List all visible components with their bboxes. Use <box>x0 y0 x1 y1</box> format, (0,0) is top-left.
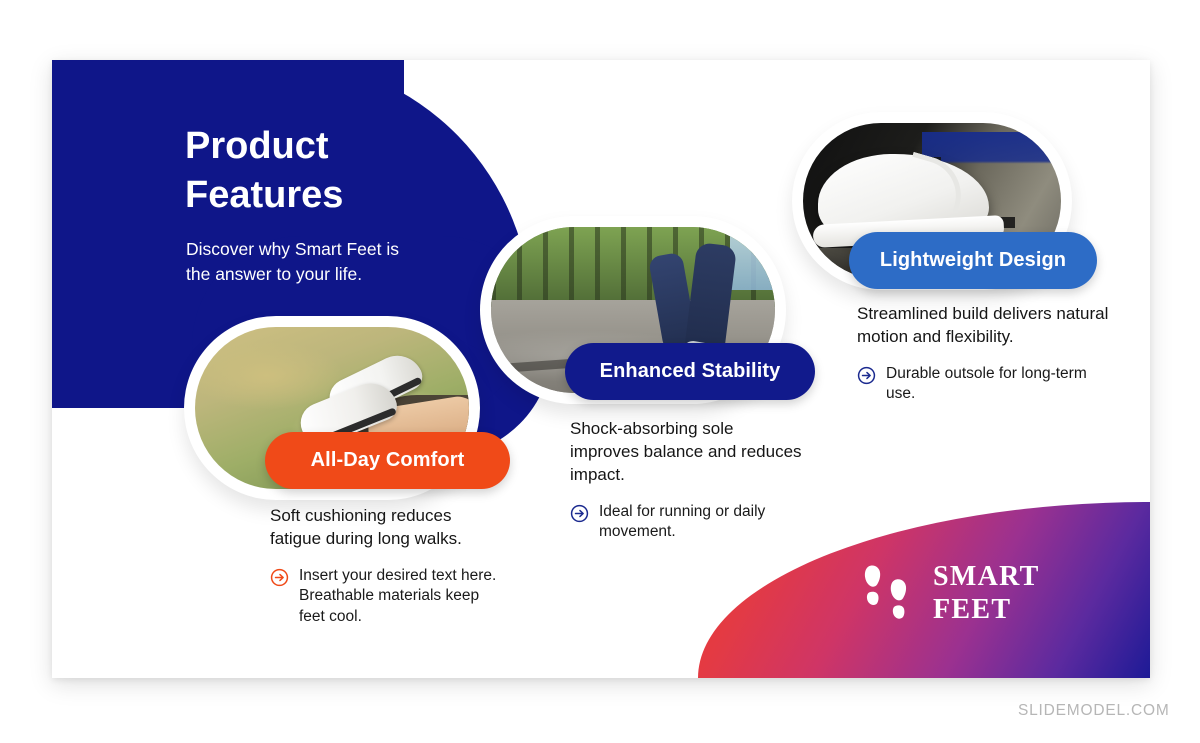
slidemodel-watermark: SLIDEMODEL.COM <box>1018 702 1170 720</box>
page-subtitle-line2: the answer to your life. <box>186 262 466 287</box>
feature-bullet-comfort: Insert your desired text here. Breathabl… <box>270 566 500 628</box>
presentation-slide: Product Features Discover why Smart Feet… <box>52 60 1150 678</box>
page-title: Product Features <box>185 122 495 219</box>
page-title-line2: Features <box>185 171 495 220</box>
brand-wordmark: SMART FEET <box>933 560 1040 626</box>
feature-badge-stability[interactable]: Enhanced Stability <box>565 343 815 400</box>
photo-sky <box>730 234 775 290</box>
footprints-icon <box>864 563 916 623</box>
brand-logo: SMART FEET <box>864 560 1040 626</box>
page-subtitle: Discover why Smart Feet is the answer to… <box>186 237 466 288</box>
arrow-circle-right-icon <box>857 366 876 385</box>
feature-text-comfort: Soft cushioning reduces fatigue during l… <box>270 505 500 628</box>
feature-text-stability: Shock-absorbing sole improves balance an… <box>570 418 805 543</box>
feature-description-stability: Shock-absorbing sole improves balance an… <box>570 418 805 487</box>
arrow-circle-right-icon <box>270 568 289 587</box>
page-title-line1: Product <box>185 122 495 171</box>
feature-description-comfort: Soft cushioning reduces fatigue during l… <box>270 505 500 551</box>
page-subtitle-line1: Discover why Smart Feet is <box>186 237 466 262</box>
feature-description-lightweight: Streamlined build delivers natural motio… <box>857 303 1112 349</box>
feature-badge-comfort[interactable]: All-Day Comfort <box>265 432 510 489</box>
feature-bullet-stability: Ideal for running or daily movement. <box>570 502 805 543</box>
feature-text-lightweight: Streamlined build delivers natural motio… <box>857 303 1112 405</box>
brand-wordmark-line1: SMART <box>933 560 1040 593</box>
feature-bullet-text-comfort: Insert your desired text here. Breathabl… <box>299 566 500 628</box>
feature-bullet-text-lightweight: Durable outsole for long-term use. <box>886 364 1112 405</box>
feature-badge-lightweight[interactable]: Lightweight Design <box>849 232 1097 289</box>
screenshot-canvas: Product Features Discover why Smart Feet… <box>0 0 1200 743</box>
brand-wordmark-line2: FEET <box>933 593 1040 626</box>
feature-bullet-lightweight: Durable outsole for long-term use. <box>857 364 1112 405</box>
feature-bullet-text-stability: Ideal for running or daily movement. <box>599 502 805 543</box>
arrow-circle-right-icon <box>570 504 589 523</box>
